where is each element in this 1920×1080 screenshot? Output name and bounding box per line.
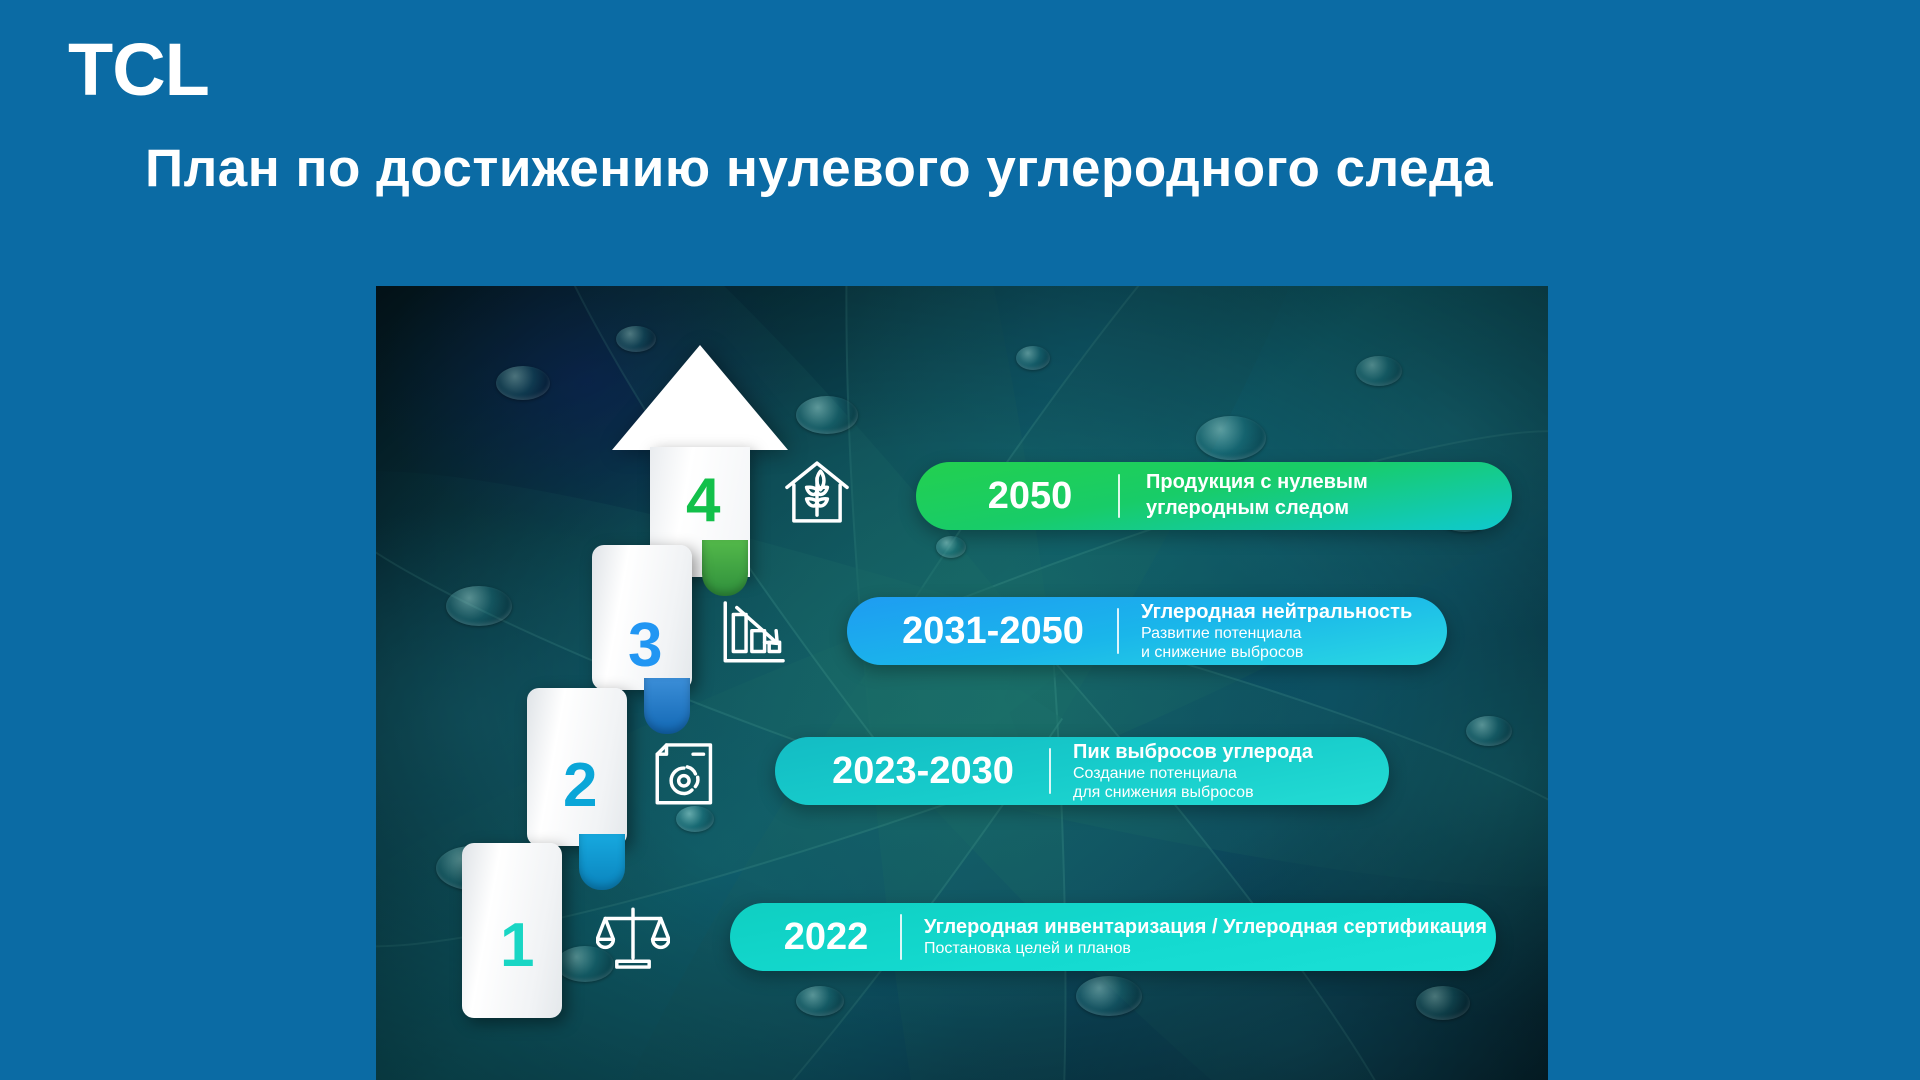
house-plant-icon (780, 455, 854, 529)
pill-subtext-2022: Постановка целей и планов (924, 940, 1474, 959)
step-2-number: 2 (563, 755, 596, 817)
step-4-number: 4 (686, 470, 719, 532)
arrow-head (612, 345, 788, 450)
pill-text-2022: Углеродная инвентаризация / Углеродная с… (902, 915, 1474, 959)
pill-year-2023-2030: 2023-2030 (797, 752, 1049, 790)
pill-year-2050: 2050 (942, 477, 1118, 515)
pill-text-2023-2030: Пик выбросов углерода Создание потенциал… (1051, 740, 1367, 803)
milestone-pill-2050[interactable]: 2050 Продукция с нулевым углеродным след… (916, 462, 1512, 530)
step-1-number: 1 (500, 915, 533, 977)
milestone-pill-2023-2030[interactable]: 2023-2030 Пик выбросов углерода Создание… (775, 737, 1389, 805)
pill-year-2031-2050: 2031-2050 (869, 612, 1117, 650)
pill-heading-2023-2030: Пик выбросов углерода (1073, 740, 1367, 764)
balance-scales-icon (596, 900, 670, 974)
pill-year-2022: 2022 (752, 918, 900, 956)
pill-subtext-2023-2030: Создание потенциала для снижения выбросо… (1073, 765, 1367, 803)
pill-heading-2031-2050: Углеродная нейтральность (1141, 600, 1425, 624)
pill-text-2031-2050: Углеродная нейтральность Развитие потенц… (1119, 600, 1425, 663)
pill-heading2-2050: углеродным следом (1146, 496, 1486, 522)
milestone-pill-2022[interactable]: 2022 Углеродная инвентаризация / Углерод… (730, 903, 1496, 971)
declining-bar-chart-icon (716, 596, 790, 670)
step-2-nub (579, 834, 625, 890)
pill-heading-2022: Углеродная инвентаризация / Углеродная с… (924, 915, 1474, 939)
pill-subtext-2031-2050: Развитие потенциала и снижение выбросов (1141, 625, 1425, 663)
pill-text-2050: Продукция с нулевым углеродным следом (1120, 470, 1486, 521)
report-donut-chart-icon (648, 738, 722, 812)
pill-heading-2050: Продукция с нулевым (1146, 470, 1486, 496)
step-3-nub (644, 678, 690, 734)
step-4-nub (702, 540, 748, 596)
milestone-pill-2031-2050[interactable]: 2031-2050 Углеродная нейтральность Разви… (847, 597, 1447, 665)
step-3-number: 3 (628, 615, 661, 677)
slide-root: TCL План по достижению нулевого углеродн… (0, 0, 1920, 1080)
